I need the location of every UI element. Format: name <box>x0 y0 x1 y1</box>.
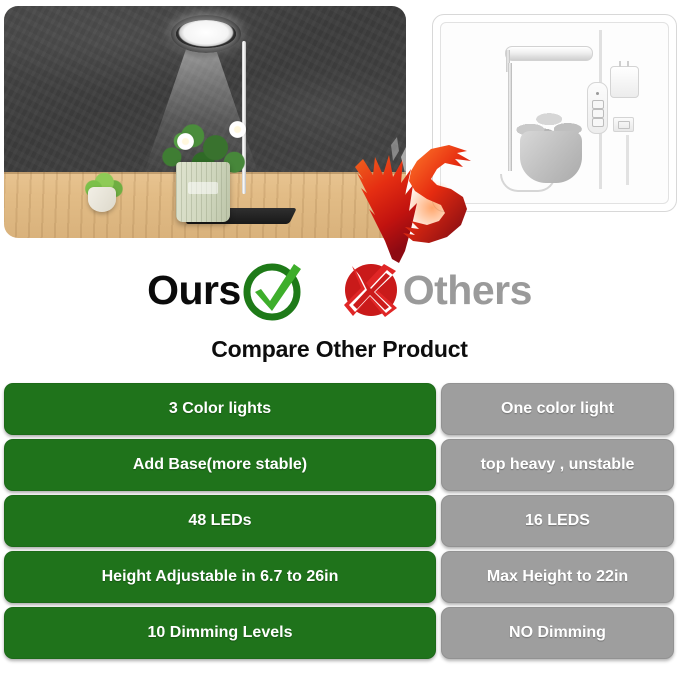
table-row: 48 LEDs 16 LEDS <box>0 495 679 547</box>
controller-button-icon <box>592 100 604 109</box>
comparison-table: 3 Color lights One color light Add Base(… <box>0 383 679 663</box>
ours-label: Ours <box>147 270 241 311</box>
table-row: 10 Dimming Levels NO Dimming <box>0 607 679 659</box>
others-feature-cell: Max Height to 22in <box>441 551 674 603</box>
red-cross-icon <box>339 258 403 322</box>
wall-plug-adapter-icon <box>610 66 639 98</box>
geometric-gray-pot <box>520 131 582 183</box>
ours-feature-cell: 10 Dimming Levels <box>4 607 436 659</box>
controller-button-icon <box>592 109 604 118</box>
others-feature-cell: top heavy , unstable <box>441 439 674 491</box>
others-feature-cell: One color light <box>441 383 674 435</box>
table-row: Height Adjustable in 6.7 to 26in Max Hei… <box>0 551 679 603</box>
ours-feature-cell: 3 Color lights <box>4 383 436 435</box>
ours-feature-cell: Add Base(more stable) <box>4 439 436 491</box>
green-check-icon <box>241 258 305 322</box>
others-label: Others <box>403 270 532 311</box>
others-feature-cell: NO Dimming <box>441 607 674 659</box>
usb-connector-icon <box>613 117 634 132</box>
vs-flame-badge-icon <box>345 133 473 265</box>
ours-verdict-group: Ours <box>147 258 305 322</box>
hero-comparison-photos <box>0 0 679 250</box>
usb-cord <box>626 135 629 185</box>
table-row: Add Base(more stable) top heavy , unstab… <box>0 439 679 491</box>
controller-button-icon <box>592 118 604 127</box>
ribbed-plant-pot <box>176 162 230 222</box>
others-verdict-group: Others <box>339 258 532 322</box>
ours-feature-cell: 48 LEDs <box>4 495 436 547</box>
verdict-row: Ours Others <box>0 252 679 328</box>
ring-lamp-head-icon <box>171 15 241 53</box>
others-feature-cell: 16 LEDS <box>441 495 674 547</box>
competitor-lamp-pole <box>508 63 512 171</box>
competitor-lamp-head-icon <box>505 46 593 61</box>
compare-heading: Compare Other Product <box>0 336 679 363</box>
photo-inner-frame <box>440 22 669 204</box>
ours-feature-cell: Height Adjustable in 6.7 to 26in <box>4 551 436 603</box>
white-flower-icon <box>177 133 194 150</box>
table-row: 3 Color lights One color light <box>0 383 679 435</box>
inline-controller-icon <box>587 82 608 134</box>
